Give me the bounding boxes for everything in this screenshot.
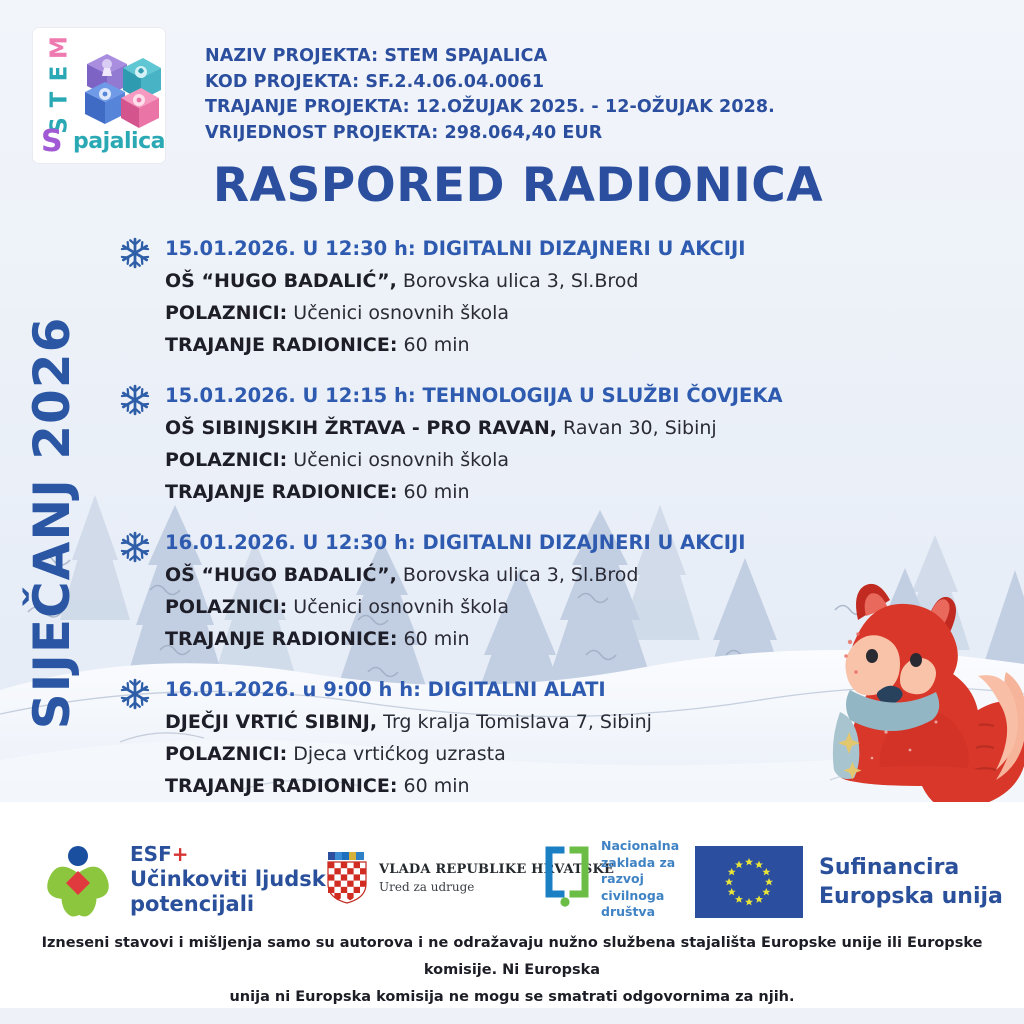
nzrcd-line-3: razvoj: [601, 871, 679, 888]
workshop-participants-row: POLAZNICI: Učenici osnovnih škola: [165, 297, 908, 329]
participants-value: Učenici osnovnih škola: [287, 449, 509, 471]
duration-value: 60 min: [397, 775, 469, 797]
disclaimer-line-2: unija ni Europska komisija ne mogu se sm…: [0, 984, 1024, 1011]
workshop-entry: 15.01.2026. U 12:30 h: DIGITALNI DIZAJNE…: [118, 232, 908, 361]
workshop-participants-row: POLAZNICI: Djeca vrtićkog uzrasta: [165, 738, 908, 770]
esf-name: ESF: [130, 842, 172, 866]
nzrcd-line-5: društva: [601, 904, 679, 921]
snowflake-icon: [118, 236, 152, 270]
workshop-duration-row: TRAJANJE RADIONICE: 60 min: [165, 329, 908, 361]
workshop-address: Trg kralja Tomislava 7, Sibinj: [377, 711, 652, 733]
nzrcd-line-4: civilnoga: [601, 888, 679, 905]
nzrcd-text: Nacionalna zaklada za razvoj civilnoga d…: [601, 838, 679, 921]
workshop-entry: 16.01.2026. U 12:30 h: DIGITALNI DIZAJNE…: [118, 526, 908, 655]
workshop-entry: 16.01.2026. u 9:00 h h: DIGITALNI ALATI …: [118, 673, 908, 802]
workshop-venue: OŠ SIBINJSKIH ŽRTAVA - PRO RAVAN,: [165, 417, 557, 439]
workshop-duration-row: TRAJANJE RADIONICE: 60 min: [165, 476, 908, 508]
esf-logo: ESF+ Učinkoviti ljudski potencijali: [40, 842, 333, 917]
nzrcd-line-1: Nacionalna: [601, 838, 679, 855]
logo-letter-s-script: S: [41, 127, 63, 157]
workshop-address: Ravan 30, Sibinj: [557, 417, 717, 439]
project-duration-line: TRAJANJE PROJEKTA: 12.OŽUJAK 2025. - 12-…: [205, 95, 905, 121]
eu-line-1: Sufinancira: [819, 853, 1003, 882]
participants-label: POLAZNICI:: [165, 302, 287, 324]
duration-label: TRAJANJE RADIONICE:: [165, 481, 397, 503]
workshop-participants-row: POLAZNICI: Učenici osnovnih škola: [165, 444, 908, 476]
workshop-title: 16.01.2026. u 9:00 h h: DIGITALNI ALATI: [165, 673, 908, 706]
workshop-entry: 15.01.2026. U 12:15 h: TEHNOLOGIJA U SLU…: [118, 379, 908, 508]
workshop-venue: OŠ “HUGO BADALIĆ”,: [165, 564, 397, 586]
month-label: SIJEČANJ 2026: [24, 243, 80, 803]
workshop-address: Borovska ulica 3, Sl.Brod: [397, 270, 639, 292]
workshop-venue: DJEČJI VRTIĆ SIBINJ,: [165, 711, 377, 733]
nzrcd-logo: Nacionalna zaklada za razvoj civilnoga d…: [543, 838, 679, 921]
participants-value: Učenici osnovnih škola: [287, 596, 509, 618]
disclaimer-line-1: Izneseni stavovi i mišljenja samo su aut…: [0, 930, 1024, 984]
bottom-bar: [0, 1008, 1024, 1024]
esf-subline-2: potencijali: [130, 892, 333, 917]
brackets-icon: [543, 844, 593, 914]
stem-spajalica-logo: M E T S: [33, 28, 165, 163]
puzzle-cubes-icon: [77, 38, 163, 134]
workshop-venue-row: DJEČJI VRTIĆ SIBINJ, Trg kralja Tomislav…: [165, 706, 908, 738]
snowflake-icon: [118, 383, 152, 417]
workshop-participants-row: POLAZNICI: Učenici osnovnih škola: [165, 591, 908, 623]
workshop-venue-row: OŠ SIBINJSKIH ŽRTAVA - PRO RAVAN, Ravan …: [165, 412, 908, 444]
project-name-line: NAZIV PROJEKTA: STEM SPAJALICA: [205, 44, 905, 70]
participants-label: POLAZNICI:: [165, 743, 287, 765]
esf-name-line: ESF+: [130, 842, 333, 867]
duration-label: TRAJANJE RADIONICE:: [165, 334, 397, 356]
page-title: RASPORED RADIONICA: [0, 160, 1024, 212]
eu-flag-icon: [695, 846, 803, 918]
logo-wordmark: pajalica: [73, 129, 165, 154]
duration-value: 60 min: [397, 481, 469, 503]
participants-value: Djeca vrtićkog uzrasta: [287, 743, 506, 765]
workshop-title: 16.01.2026. U 12:30 h: DIGITALNI DIZAJNE…: [165, 526, 908, 559]
snowflake-icon: [118, 677, 152, 711]
snowflake-icon: [118, 530, 152, 564]
workshop-duration-row: TRAJANJE RADIONICE: 60 min: [165, 770, 908, 802]
participants-label: POLAZNICI:: [165, 449, 287, 471]
project-value-line: VRIJEDNOST PROJEKTA: 298.064,40 EUR: [205, 121, 905, 147]
croatian-coat-of-arms-icon: [325, 852, 369, 904]
eu-logo: Sufinancira Europska unija: [695, 846, 1003, 918]
workshop-venue-row: OŠ “HUGO BADALIĆ”, Borovska ulica 3, Sl.…: [165, 559, 908, 591]
workshop-list: 15.01.2026. U 12:30 h: DIGITALNI DIZAJNE…: [118, 232, 908, 820]
poster-root: M E T S: [0, 0, 1024, 1024]
workshop-address: Borovska ulica 3, Sl.Brod: [397, 564, 639, 586]
duration-value: 60 min: [397, 334, 469, 356]
duration-label: TRAJANJE RADIONICE:: [165, 775, 397, 797]
workshop-duration-row: TRAJANJE RADIONICE: 60 min: [165, 623, 908, 655]
nzrcd-line-2: zaklada za: [601, 855, 679, 872]
footer: ESF+ Učinkoviti ljudski potencijali: [0, 802, 1024, 1008]
duration-label: TRAJANJE RADIONICE:: [165, 628, 397, 650]
project-info-block: NAZIV PROJEKTA: STEM SPAJALICA KOD PROJE…: [205, 44, 905, 146]
duration-value: 60 min: [397, 628, 469, 650]
esf-pinwheel-icon: [40, 843, 116, 917]
workshop-venue: OŠ “HUGO BADALIĆ”,: [165, 270, 397, 292]
esf-text: ESF+ Učinkoviti ljudski potencijali: [130, 842, 333, 917]
workshop-title: 15.01.2026. U 12:30 h: DIGITALNI DIZAJNE…: [165, 232, 908, 265]
eu-text: Sufinancira Europska unija: [819, 853, 1003, 911]
esf-subline-1: Učinkoviti ljudski: [130, 867, 333, 892]
eu-line-2: Europska unija: [819, 882, 1003, 911]
project-code-line: KOD PROJEKTA: SF.2.4.06.04.0061: [205, 70, 905, 96]
workshop-venue-row: OŠ “HUGO BADALIĆ”, Borovska ulica 3, Sl.…: [165, 265, 908, 297]
esf-plus: +: [172, 842, 189, 866]
workshop-title: 15.01.2026. U 12:15 h: TEHNOLOGIJA U SLU…: [165, 379, 908, 412]
participants-label: POLAZNICI:: [165, 596, 287, 618]
funder-logo-row: ESF+ Učinkoviti ljudski potencijali: [0, 820, 1024, 930]
participants-value: Učenici osnovnih škola: [287, 302, 509, 324]
